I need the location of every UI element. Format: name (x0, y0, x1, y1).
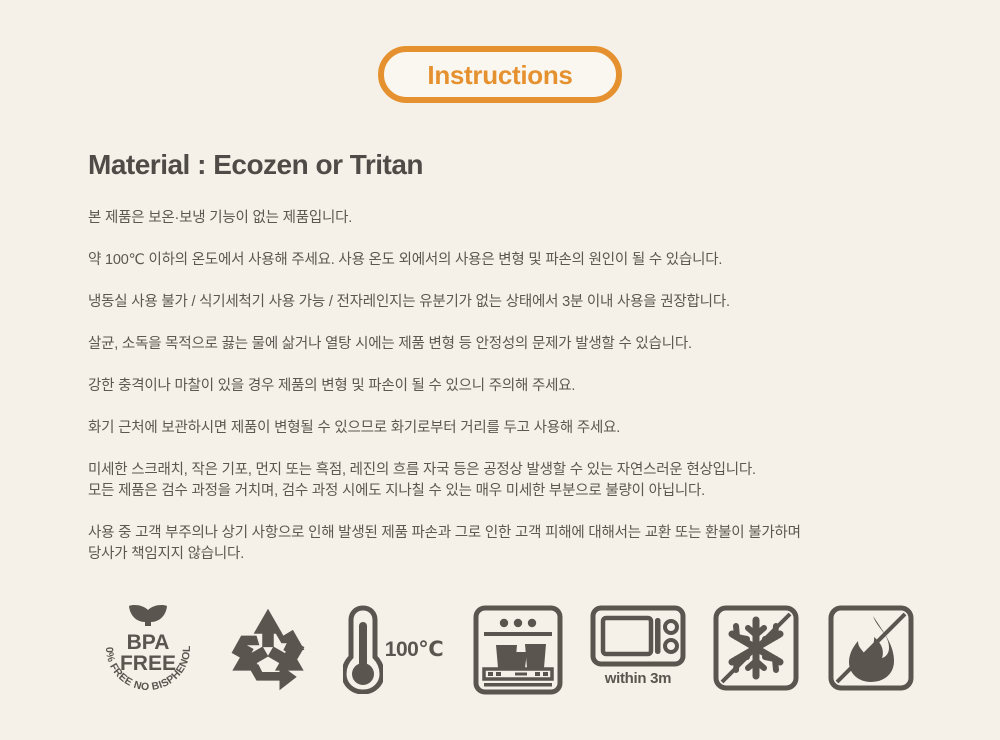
microwave-duration-label: within 3m (605, 670, 671, 687)
instruction-paragraph: 미세한 스크래치, 작은 기포, 먼지 또는 흑점, 레진의 흐름 자국 등은 … (88, 460, 968, 502)
instructions-badge: Instructions (378, 46, 622, 103)
instructions-page: Instructions Material : Ecozen or Tritan… (0, 0, 1000, 740)
microwave-icon (590, 604, 686, 668)
no-freezer-snowflake-icon (712, 604, 800, 692)
instructions-content: Material : Ecozen or Tritan 본 제품은 보온·보냉 … (88, 148, 968, 565)
dishwasher-icon (472, 604, 564, 696)
header-badge-container: Instructions (0, 46, 1000, 103)
instruction-paragraph: 냉동실 사용 불가 / 식기세척기 사용 가능 / 전자레인지는 유분기가 없는… (88, 292, 968, 313)
instruction-paragraph: 약 100℃ 이하의 온도에서 사용해 주세요. 사용 온도 외에서의 사용은 … (88, 250, 968, 271)
care-symbol-bpa-free: 100% FREE NO BISPHENOL A BPA FREE (88, 604, 208, 708)
bpa-free-icon: 100% FREE NO BISPHENOL A BPA FREE (96, 604, 200, 696)
recycle-icon (220, 604, 316, 696)
instruction-paragraph: 살균, 소독을 목적으로 끓는 물에 삶거나 열탕 시에는 제품 변형 등 안정… (88, 334, 968, 355)
instruction-paragraph: 강한 충격이나 마찰이 있을 경우 제품의 변형 및 파손이 될 수 있으니 주… (88, 376, 968, 397)
care-symbol-dishwasher-safe (458, 604, 578, 708)
care-symbol-no-fire (813, 604, 928, 708)
instruction-paragraph: 본 제품은 보온·보냉 기능이 없는 제품입니다. (88, 208, 968, 229)
thermometer-icon (343, 604, 383, 694)
care-symbol-no-freezer (698, 604, 813, 708)
care-symbol-heat-resistance: 100℃ (328, 604, 458, 708)
material-heading: Material : Ecozen or Tritan (88, 148, 968, 182)
care-symbols-row: 100% FREE NO BISPHENOL A BPA FREE (88, 604, 928, 708)
no-fire-flame-icon (827, 604, 915, 692)
heat-resistance-label: 100℃ (385, 637, 443, 662)
instruction-paragraph: 화기 근처에 보관하시면 제품이 변형될 수 있으므로 화기로부터 거리를 두고… (88, 418, 968, 439)
instructions-badge-label: Instructions (427, 62, 572, 88)
instruction-paragraph: 사용 중 고객 부주의나 상기 사항으로 인해 발생된 제품 파손과 그로 인한… (88, 523, 968, 565)
bpa-label-line2: FREE (120, 652, 176, 675)
care-symbol-recyclable (208, 604, 328, 708)
bpa-label-line1: BPA (127, 631, 170, 654)
care-symbol-microwave-safe: within 3m (578, 604, 698, 708)
